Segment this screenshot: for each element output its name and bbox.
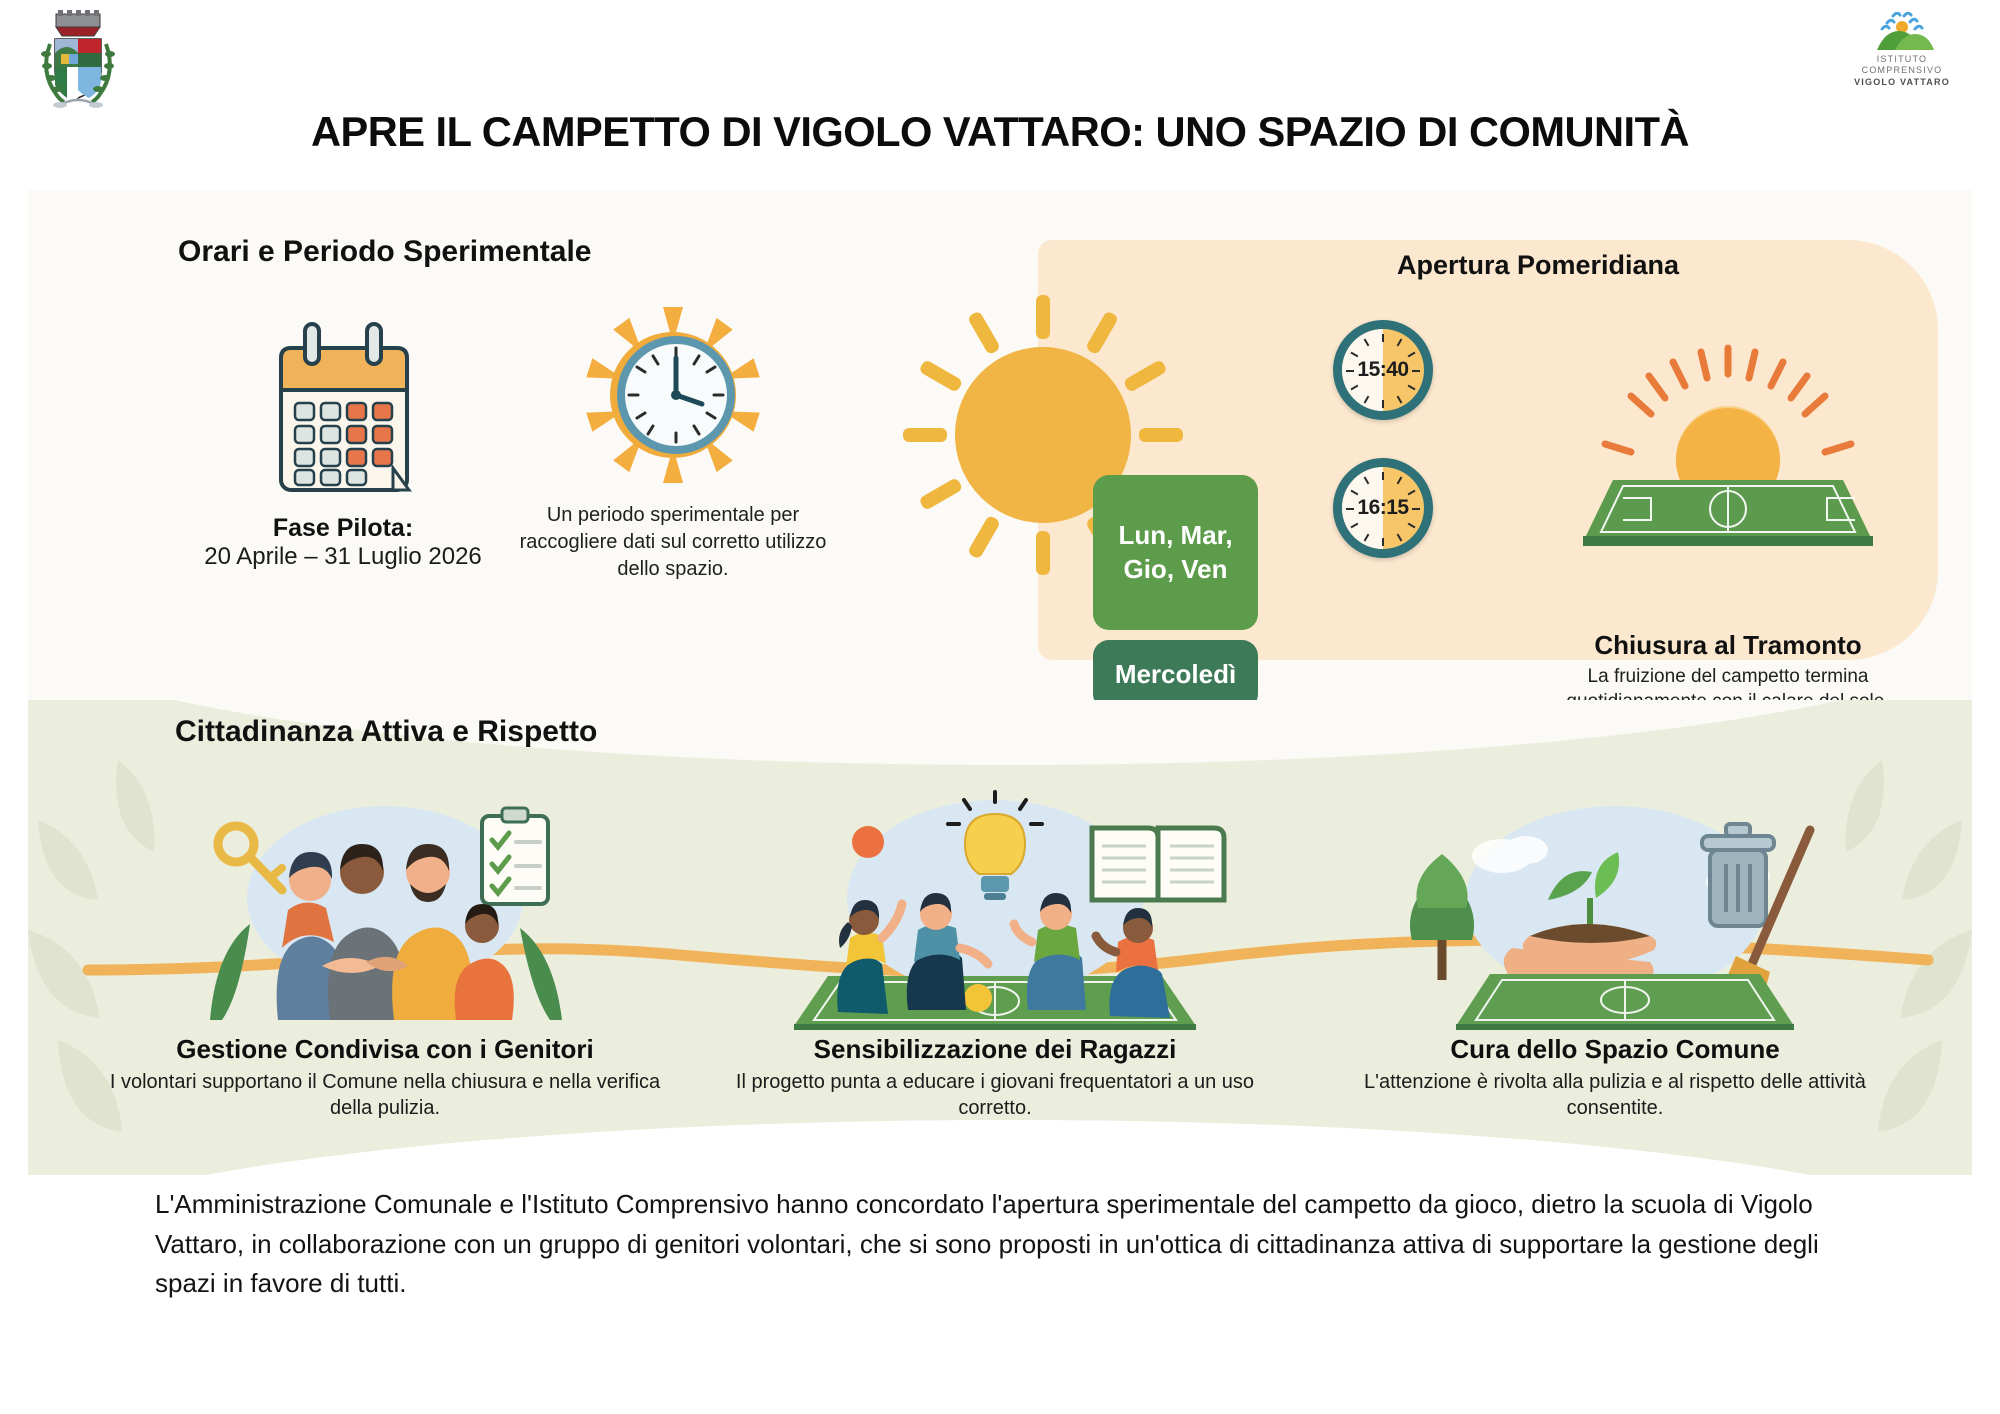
trial-period-block: Un periodo sperimentale per raccogliere … bbox=[508, 300, 838, 583]
citizenship-column-2: Sensibilizzazione dei Ragazzi Il progett… bbox=[700, 780, 1290, 1122]
citizenship-column-1: Gestione Condivisa con i Genitori I volo… bbox=[90, 780, 680, 1122]
afternoon-opening-title: Apertura Pomeridiana bbox=[1258, 250, 1818, 281]
wave-divider-bottom bbox=[28, 1120, 1972, 1175]
trial-note-text: Un periodo sperimentale per raccogliere … bbox=[508, 502, 838, 583]
pilot-phase-block: Fase Pilota: 20 Aprile – 31 Luglio 2026 bbox=[193, 300, 493, 571]
citizenship-section-title: Cittadinanza Attiva e Rispetto bbox=[175, 715, 597, 749]
citizenship-column-3: Cura dello Spazio Comune L'attenzione è … bbox=[1320, 780, 1910, 1122]
clock-time-label-1: 15:40 bbox=[1342, 329, 1424, 411]
column-2-heading: Sensibilizzazione dei Ragazzi bbox=[700, 1034, 1290, 1065]
column-1-heading: Gestione Condivisa con i Genitori bbox=[90, 1034, 680, 1065]
footer-paragraph: L'Amministrazione Comunale e l'Istituto … bbox=[155, 1185, 1855, 1304]
sunset-caption: Chiusura al Tramonto La fruizione del ca… bbox=[1518, 630, 1938, 710]
kids-playing-illustration bbox=[700, 780, 1290, 1030]
sunset-heading: Chiusura al Tramonto bbox=[1518, 630, 1938, 661]
column-3-text: L'attenzione è rivolta alla pulizia e al… bbox=[1320, 1069, 1910, 1122]
schedule-card: Orari e Periodo Sperimentale bbox=[28, 190, 1972, 710]
clock-15-40: 15:40 bbox=[1333, 320, 1433, 420]
clipboard-icon bbox=[482, 808, 548, 904]
schedule-section-title: Orari e Periodo Sperimentale bbox=[178, 235, 591, 269]
pilot-dates: 20 Aprile – 31 Luglio 2026 bbox=[193, 543, 493, 571]
column-1-text: I volontari supportano il Comune nella c… bbox=[90, 1069, 680, 1122]
clock-16-15: 16:15 bbox=[1333, 458, 1433, 558]
tree-icon bbox=[1410, 854, 1474, 980]
calendar-icon bbox=[193, 300, 493, 500]
trash-bin-icon bbox=[1702, 824, 1774, 926]
sunset-pitch-illustration bbox=[1583, 340, 1873, 560]
column-3-heading: Cura dello Spazio Comune bbox=[1320, 1034, 1910, 1065]
page-header: ISTITUTO COMPRENSIVO VIGOLO VATTARO APRE… bbox=[0, 0, 2000, 185]
book-icon bbox=[1092, 828, 1224, 900]
logo-line-2: COMPRENSIVO bbox=[1832, 65, 1972, 76]
care-illustration bbox=[1320, 780, 1910, 1030]
clock-time-label-2: 16:15 bbox=[1342, 467, 1424, 549]
sun-clock-icon bbox=[508, 300, 838, 490]
istituto-comprensivo-logo: ISTITUTO COMPRENSIVO VIGOLO VATTARO bbox=[1832, 12, 1972, 90]
days-chip-weekdays: Lun, Mar, Gio, Ven bbox=[1093, 475, 1258, 630]
logo-line-1: ISTITUTO bbox=[1832, 54, 1972, 65]
page-title: APRE IL CAMPETTO DI VIGOLO VATTARO: UNO … bbox=[10, 108, 1990, 156]
logo-line-3: VIGOLO VATTARO bbox=[1832, 77, 1972, 88]
parents-illustration bbox=[90, 780, 680, 1030]
pilot-label: Fase Pilota: bbox=[193, 514, 493, 543]
comune-crest-logo bbox=[28, 8, 128, 113]
column-2-text: Il progetto punta a educare i giovani fr… bbox=[700, 1069, 1290, 1122]
